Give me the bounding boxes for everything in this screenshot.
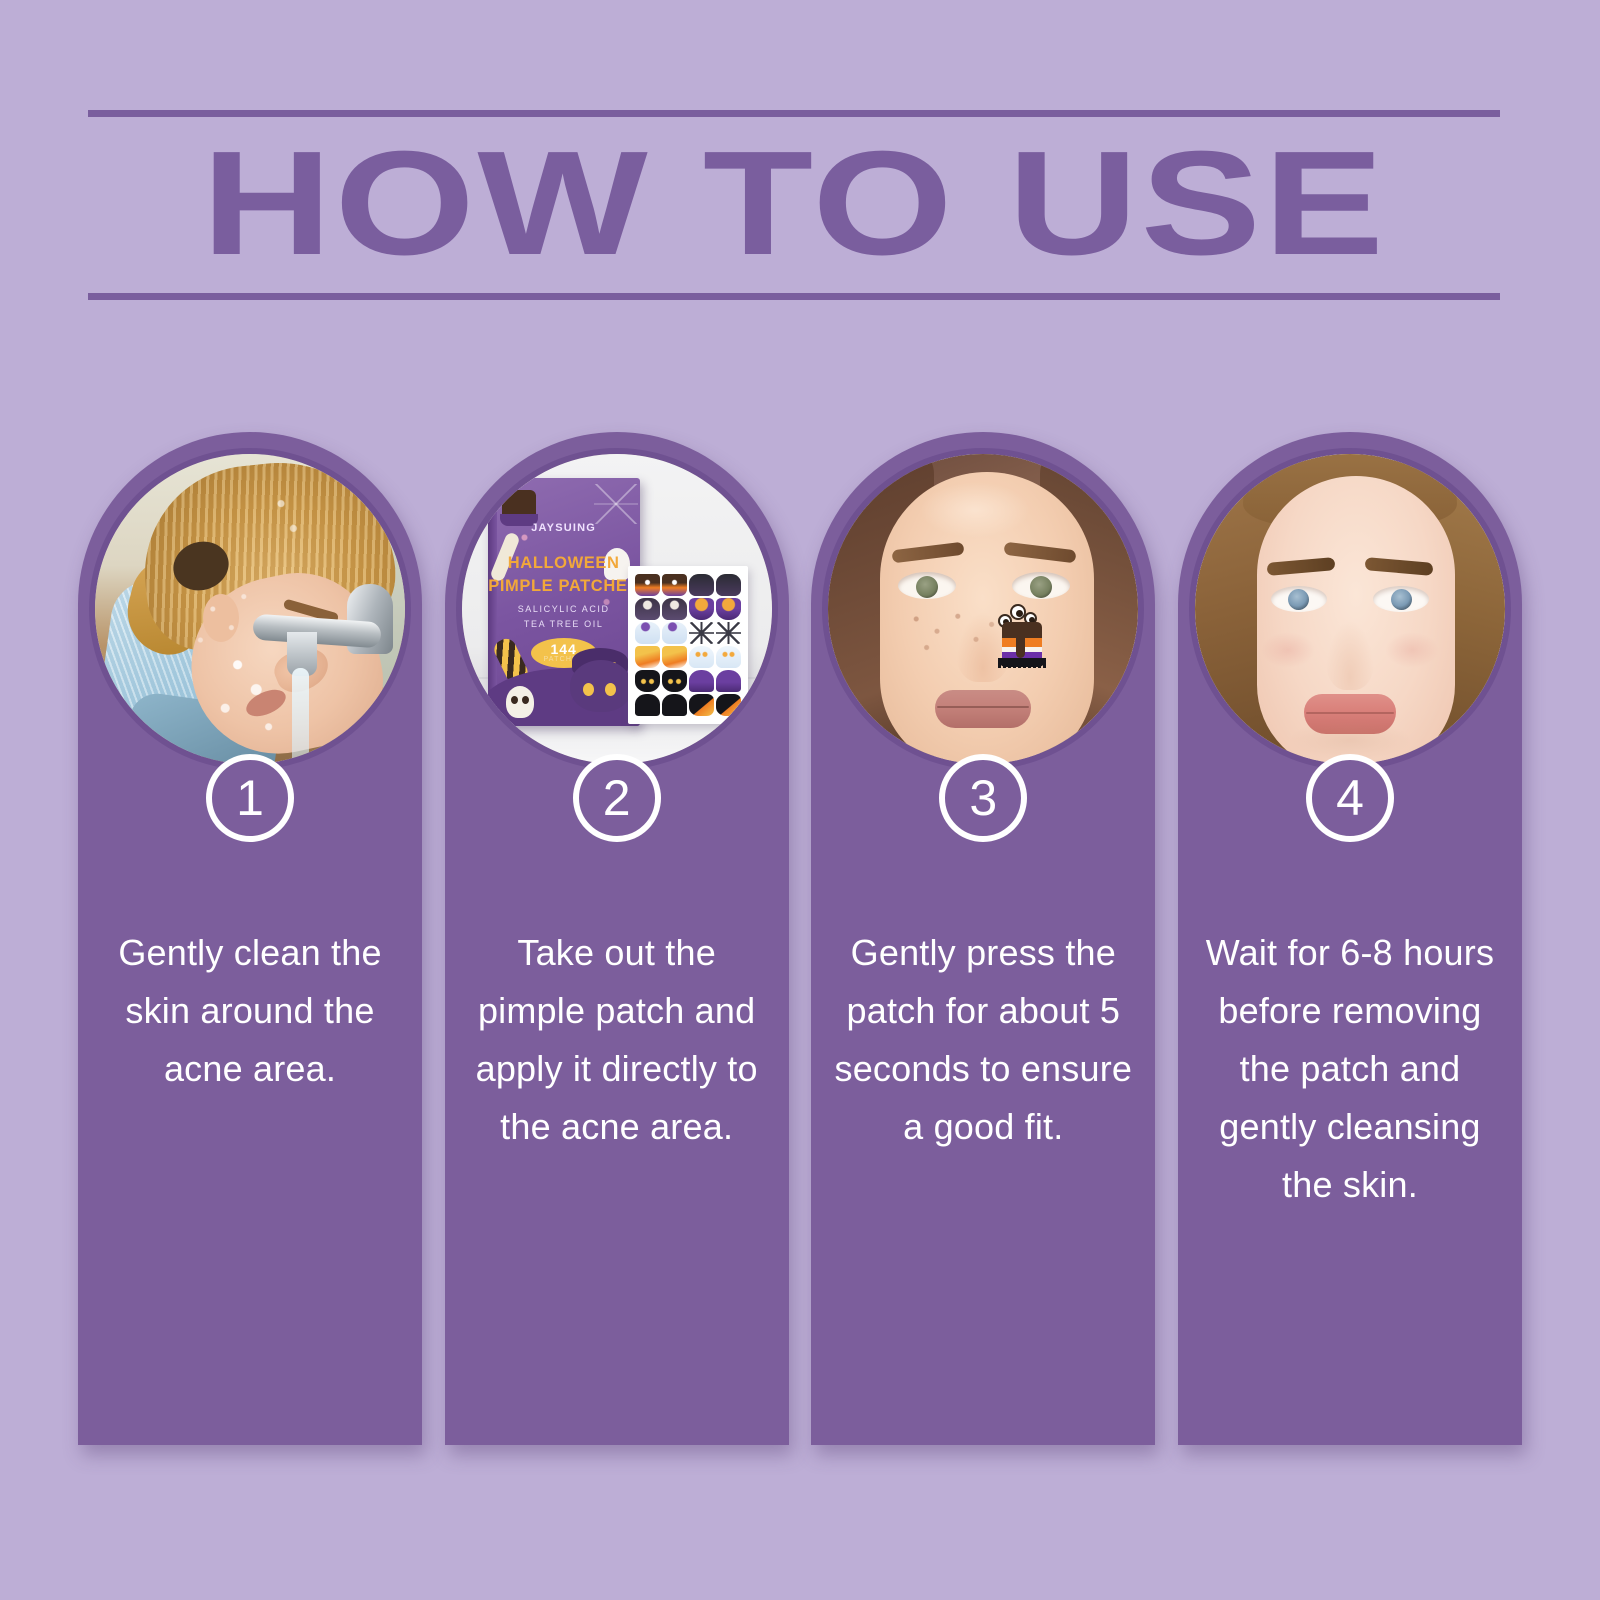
product-box: JAYSUING HALLOWEEN PIMPLE PATCHES SALICY… xyxy=(488,478,640,726)
nose xyxy=(1326,622,1374,690)
step-card-4[interactable]: 4 Wait for 6-8 hours before removing the… xyxy=(1178,432,1522,1445)
step-card-2[interactable]: JAYSUING HALLOWEEN PIMPLE PATCHES SALICY… xyxy=(445,432,789,1445)
sticker-witch-ghost xyxy=(635,622,660,644)
cheek-right xyxy=(1385,632,1439,668)
lips xyxy=(935,690,1031,728)
lip-line xyxy=(1306,712,1394,714)
black-cat-icon xyxy=(570,660,632,712)
lip-line xyxy=(937,706,1029,708)
iris-left xyxy=(916,576,938,598)
page-title: HOW TO USE xyxy=(0,124,1600,284)
step-badge-4: 4 xyxy=(1306,754,1394,842)
water-droplets xyxy=(95,454,405,764)
iris-right xyxy=(1391,589,1412,610)
sticker-monster-cake xyxy=(635,574,660,596)
spider-web-icon xyxy=(594,484,638,524)
cheek-left xyxy=(1261,632,1315,668)
sticker-black-cat xyxy=(662,670,687,692)
sticker-ghost xyxy=(689,646,714,668)
sticker-cauldron xyxy=(716,598,741,620)
product-ingredient-2: TEA TREE OIL xyxy=(488,619,640,629)
step-badge-3: 3 xyxy=(939,754,1027,842)
step-3-photo-circle xyxy=(822,448,1144,770)
sticker-witch-hat xyxy=(716,670,741,692)
sticker-sheet xyxy=(628,566,748,724)
iris-left xyxy=(1288,589,1309,610)
step-2-photo-circle: JAYSUING HALLOWEEN PIMPLE PATCHES SALICY… xyxy=(456,448,778,770)
sticker-candy-corn xyxy=(635,646,660,668)
steps-row: 1 Gently clean the skin around the acne … xyxy=(78,432,1522,1452)
step-badge-2: 2 xyxy=(573,754,661,842)
sticker-broom xyxy=(716,694,741,716)
product-ingredient-1: SALICYLIC ACID xyxy=(488,604,640,614)
patch-chocolate-drip xyxy=(1016,634,1025,658)
step-badge-1: 1 xyxy=(206,754,294,842)
step-caption-3: Gently press the patch for about 5 secon… xyxy=(827,924,1139,1156)
step-caption-2: Take out the pimple patch and apply it d… xyxy=(461,924,773,1156)
title-divider-top xyxy=(88,110,1500,117)
clear-skin-portrait-photo xyxy=(1195,454,1505,764)
product-headline-1: HALLOWEEN xyxy=(488,554,640,573)
product-brand: JAYSUING xyxy=(488,522,640,534)
forehead-highlight xyxy=(920,482,1030,538)
sticker-spider-web xyxy=(716,622,741,644)
step-card-3[interactable]: 3 Gently press the patch for about 5 sec… xyxy=(811,432,1155,1445)
iris-right xyxy=(1030,576,1052,598)
cat-eye-right xyxy=(605,683,616,696)
sticker-ghost xyxy=(716,646,741,668)
cat-eye-left xyxy=(583,683,594,696)
skull-eye-left xyxy=(511,696,518,704)
face-with-applied-patch-photo xyxy=(828,454,1138,764)
sticker-reaper xyxy=(689,574,714,596)
sticker-witch-hat xyxy=(689,670,714,692)
skull-eye-right xyxy=(522,696,529,704)
step-1-photo-circle xyxy=(89,448,411,770)
sticker-black-cat xyxy=(635,670,660,692)
step-caption-4: Wait for 6-8 hours before removing the p… xyxy=(1194,924,1506,1214)
sticker-bat xyxy=(635,694,660,716)
sticker-cauldron xyxy=(689,598,714,620)
sticker-bat xyxy=(662,694,687,716)
sticker-candy-corn xyxy=(662,646,687,668)
sticker-reaper xyxy=(716,574,741,596)
sticker-broom xyxy=(689,694,714,716)
step-4-photo-circle xyxy=(1189,448,1511,770)
title-divider-bottom xyxy=(88,293,1500,300)
product-headline-2: PIMPLE PATCHES xyxy=(488,577,640,596)
product-box-and-sticker-sheet-photo: JAYSUING HALLOWEEN PIMPLE PATCHES SALICY… xyxy=(462,454,772,764)
page-title-block: HOW TO USE xyxy=(88,110,1500,300)
sticker-witch-ghost xyxy=(662,622,687,644)
step-caption-1: Gently clean the skin around the acne ar… xyxy=(94,924,406,1098)
sticker-reaper-face xyxy=(635,598,660,620)
sticker-monster-cake xyxy=(662,574,687,596)
woman-washing-face-photo xyxy=(95,454,405,764)
patch-spikes xyxy=(998,660,1046,668)
sticker-spider-web xyxy=(689,622,714,644)
skull-icon xyxy=(506,686,534,718)
sticker-reaper-face xyxy=(662,598,687,620)
monster-pimple-patch xyxy=(996,600,1050,662)
step-card-1[interactable]: 1 Gently clean the skin around the acne … xyxy=(78,432,422,1445)
